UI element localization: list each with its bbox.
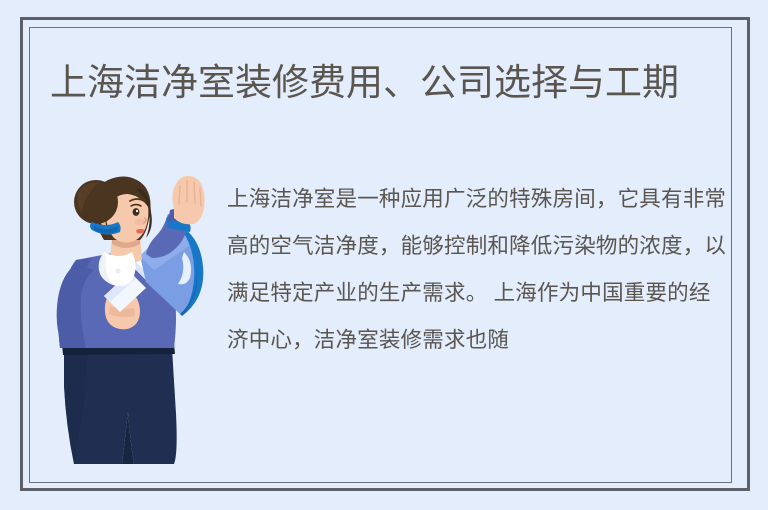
page-canvas: 上海洁净室装修费用、公司选择与工期 [0,0,768,510]
content-area: 上海洁净室是一种应用广泛的特殊房间，它具有非常高的空气洁净度，能够控制和降低污染… [30,150,730,480]
article-body: 上海洁净室是一种应用广泛的特殊房间，它具有非常高的空气洁净度，能够控制和降低污染… [227,176,732,364]
article-body-text: 上海洁净室是一种应用广泛的特殊房间，它具有非常高的空气洁净度，能够控制和降低污染… [227,187,726,352]
woman-with-megaphone-illustration [48,174,226,470]
page-title: 上海洁净室装修费用、公司选择与工期 [50,58,740,108]
